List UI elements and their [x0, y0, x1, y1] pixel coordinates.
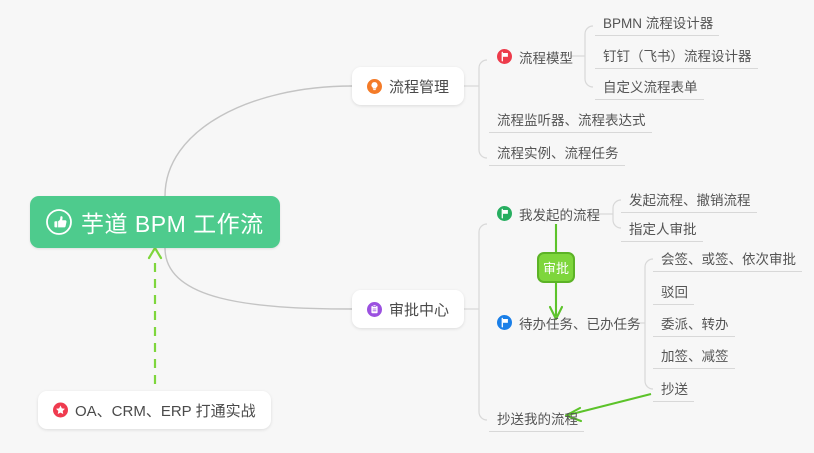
leaf-label: 发起流程、撤销流程 [629, 189, 751, 209]
leaf-label: 加签、减签 [661, 345, 729, 365]
subnode-todo-done-tasks[interactable]: 待办任务、已办任务 [489, 309, 647, 336]
connector-root-to-process-management [165, 86, 352, 196]
leaf-start-cancel-process[interactable]: 发起流程、撤销流程 [621, 186, 757, 213]
branch-node-approval-center[interactable]: 审批中心 [352, 290, 464, 328]
lightbulb-icon [367, 79, 382, 94]
leaf-label: 钉钉（飞书）流程设计器 [603, 45, 752, 65]
floating-node-integration[interactable]: OA、CRM、ERP 打通实战 [38, 391, 271, 429]
clipboard-icon [367, 302, 382, 317]
bracket-approval-center [479, 224, 487, 420]
dashed-link-arrow-head [149, 248, 161, 258]
bracket-my-initiated [613, 200, 621, 228]
leaf-label: 流程监听器、流程表达式 [497, 109, 646, 129]
mindmap-canvas: 芋道 BPM 工作流 流程管理 流程模型 BPMN 流程设计器 钉钉（飞书）流程… [0, 0, 814, 453]
leaf-process-listener-expression[interactable]: 流程监听器、流程表达式 [489, 106, 652, 133]
root-node-label: 芋道 BPM 工作流 [81, 205, 264, 239]
root-node[interactable]: 芋道 BPM 工作流 [30, 196, 280, 248]
leaf-bpmn-designer[interactable]: BPMN 流程设计器 [595, 9, 719, 36]
subnode-my-initiated-processes[interactable]: 我发起的流程 [489, 200, 606, 227]
branch-label-process-management: 流程管理 [389, 76, 449, 97]
leaf-delegate-transfer[interactable]: 委派、转办 [653, 310, 735, 337]
leaf-cc-to-me-processes[interactable]: 抄送我的流程 [489, 405, 584, 432]
leaf-label: 指定人审批 [629, 218, 697, 238]
leaf-process-instance-task[interactable]: 流程实例、流程任务 [489, 139, 625, 166]
branch-label-approval-center: 审批中心 [389, 299, 449, 320]
flag-icon [497, 315, 512, 330]
flag-icon [497, 49, 512, 64]
leaf-label: BPMN 流程设计器 [603, 12, 713, 32]
leaf-add-remove-sign[interactable]: 加签、减签 [653, 342, 735, 369]
subnode-label-todo-done-tasks: 待办任务、已办任务 [519, 313, 641, 333]
subnode-label-process-model: 流程模型 [519, 47, 573, 67]
floating-node-label: OA、CRM、ERP 打通实战 [75, 400, 256, 421]
subnode-label-my-initiated: 我发起的流程 [519, 204, 600, 224]
branch-node-process-management[interactable]: 流程管理 [352, 67, 464, 105]
bracket-process-management [479, 60, 487, 158]
leaf-countersign-orsign-sequential[interactable]: 会签、或签、依次审批 [653, 245, 802, 272]
thumbs-up-icon [46, 209, 72, 235]
leaf-cc[interactable]: 抄送 [653, 375, 694, 402]
leaf-label: 流程实例、流程任务 [497, 142, 619, 162]
subnode-process-model[interactable]: 流程模型 [489, 43, 579, 70]
leaf-label: 自定义流程表单 [603, 76, 698, 96]
leaf-label: 会签、或签、依次审批 [661, 248, 796, 268]
flow-badge-approval: 审批 [537, 252, 575, 283]
connector-root-to-approval-center [165, 248, 352, 309]
leaf-label: 委派、转办 [661, 313, 729, 333]
leaf-assigned-approver[interactable]: 指定人审批 [621, 215, 703, 242]
leaf-label: 抄送 [661, 378, 688, 398]
leaf-label: 驳回 [661, 281, 688, 301]
bracket-process-model [585, 26, 593, 87]
flag-icon [497, 206, 512, 221]
leaf-dingtalk-feishu-designer[interactable]: 钉钉（飞书）流程设计器 [595, 42, 758, 69]
leaf-reject[interactable]: 驳回 [653, 278, 694, 305]
flow-badge-label: 审批 [543, 258, 569, 277]
star-icon [53, 403, 68, 418]
leaf-label: 抄送我的流程 [497, 408, 578, 428]
leaf-custom-process-form[interactable]: 自定义流程表单 [595, 73, 704, 100]
